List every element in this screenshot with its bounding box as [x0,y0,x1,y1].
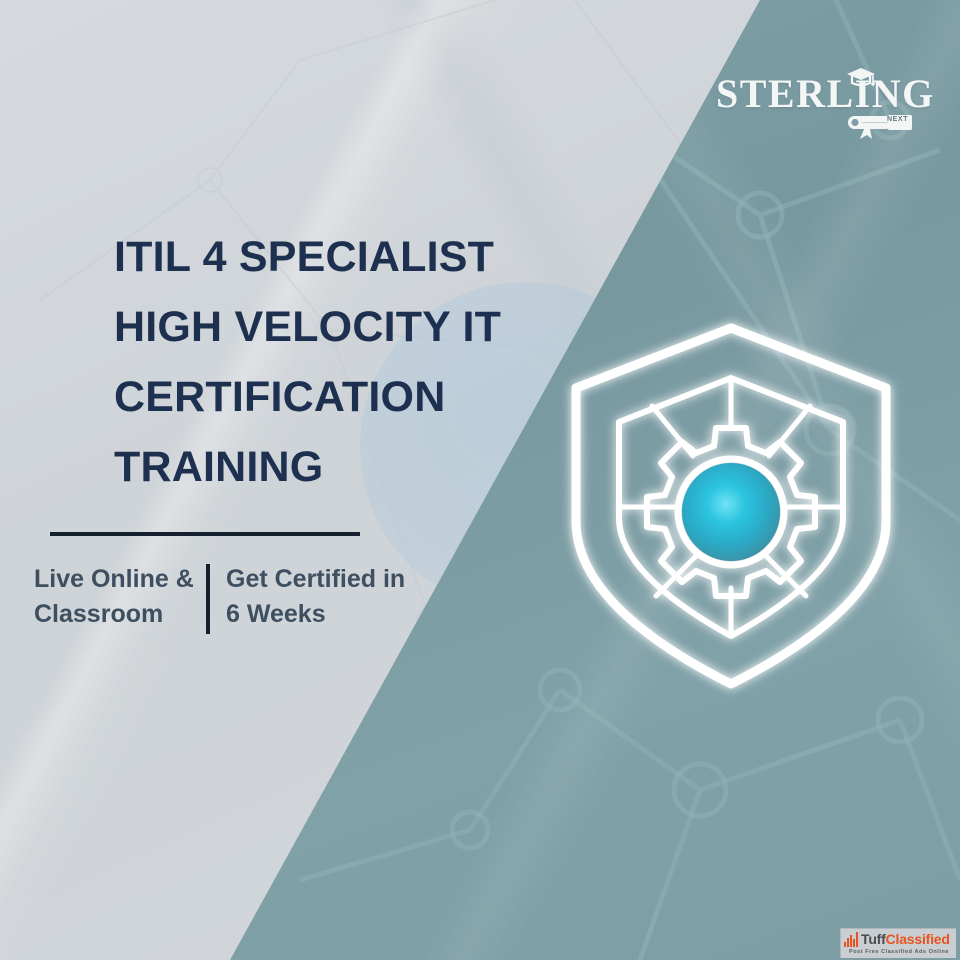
headline-divider-rule [50,532,360,536]
promo-poster: STERLING NEXT ITIL 4 SPECIALIST HIGH VEL… [0,0,960,960]
graduation-cap-icon [846,66,876,88]
headline-line-1: ITIL 4 SPECIALIST [114,222,584,292]
headline-line-3: CERTIFICATION [114,362,584,432]
headline: ITIL 4 SPECIALIST HIGH VELOCITY IT CERTI… [114,222,584,502]
headline-line-2: HIGH VELOCITY IT [114,292,584,362]
watermark-brand-part2: Classified [886,931,950,947]
watermark-tagline: Post Free Classified Ads Online [844,949,954,955]
shield-gear-emblem [556,306,906,706]
subheadline-vertical-divider [206,564,210,634]
tuffclassified-watermark[interactable]: TuffClassified Post Free Classified Ads … [840,928,956,958]
bar-chart-icon [844,932,859,947]
watermark-brand-part1: Tuff [861,931,886,947]
watermark-brand-name: TuffClassified [861,932,950,947]
sterling-logo[interactable]: STERLING NEXT [716,66,916,144]
logo-wordmark: STERLING [716,74,916,114]
logo-badge-text: NEXT [887,116,908,123]
diploma-scroll-icon [844,110,916,140]
subheadline-duration: Get Certified in 6 Weeks [226,562,405,632]
watermark-brand-row: TuffClassified [844,931,954,948]
headline-line-4: TRAINING [114,432,584,502]
glowing-core-icon [682,463,780,561]
subheadline-delivery-mode: Live Online & Classroom [34,562,206,632]
subheadline: Live Online & Classroom Get Certified in… [34,562,405,638]
